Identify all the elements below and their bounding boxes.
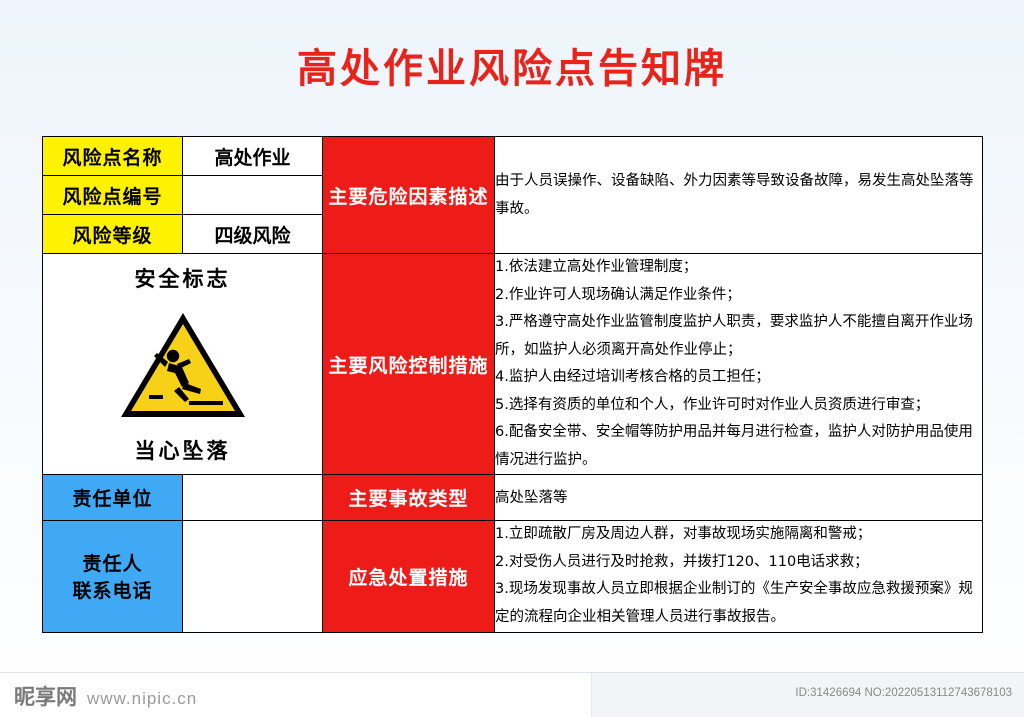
responsible-person-label-line1: 责任人 [43, 549, 182, 576]
control-measure-item: 2.作业许可人现场确认满足作业条件； [495, 282, 982, 310]
risk-name-label: 风险点名称 [43, 137, 183, 176]
poster-page: 高处作业风险点告知牌 风险点名称 高处作业 主要危险因素描述 由于人员误操作、设… [0, 0, 1024, 717]
safety-sign-cell: 安全标志 [43, 254, 323, 475]
control-measure-item: 1.依法建立高处作业管理制度； [495, 254, 982, 282]
table-row: 责任单位 主要事故类型 高处坠落等 [43, 475, 983, 521]
control-measures-text: 1.依法建立高处作业管理制度； 2.作业许可人现场确认满足作业条件； 3.严格遵… [495, 254, 983, 475]
table-row: 安全标志 [43, 254, 983, 475]
responsible-unit-label: 责任单位 [43, 475, 183, 521]
accident-type-text: 高处坠落等 [495, 475, 983, 521]
risk-level-label: 风险等级 [43, 215, 183, 254]
table-row: 风险点名称 高处作业 主要危险因素描述 由于人员误操作、设备缺陷、外力因素等导致… [43, 137, 983, 176]
risk-notice-table: 风险点名称 高处作业 主要危险因素描述 由于人员误操作、设备缺陷、外力因素等导致… [42, 136, 983, 633]
risk-code-label: 风险点编号 [43, 176, 183, 215]
safety-sign-caption: 当心坠落 [43, 435, 322, 465]
control-measure-item: 6.配备安全带、安全帽等防护用品并每月进行检查，监护人对防护用品使用情况进行监护… [495, 419, 982, 474]
table-row: 责任人 联系电话 应急处置措施 1.立即疏散厂房及周边人群，对事故现场实施隔离和… [43, 521, 983, 632]
control-measures-header: 主要风险控制措施 [323, 254, 495, 475]
control-measure-item: 5.选择有资质的单位和个人，作业许可时对作业人员资质进行审查； [495, 392, 982, 420]
site-logo-text: 昵享网 [14, 681, 77, 711]
control-measure-item: 3.严格遵守高处作业监管制度监护人职责，要求监护人不能擅自离开作业场所，如监护人… [495, 309, 982, 364]
emergency-measure-item: 2.对受伤人员进行及时抢救，并拨打120、110电话求救； [495, 549, 982, 577]
accident-type-header: 主要事故类型 [323, 475, 495, 521]
emergency-measure-item: 1.立即疏散厂房及周边人群，对事故现场实施隔离和警戒； [495, 521, 982, 549]
risk-name-value[interactable]: 高处作业 [183, 137, 323, 176]
safety-sign-title: 安全标志 [43, 263, 322, 293]
responsible-person-label-line2: 联系电话 [43, 576, 182, 603]
control-measure-item: 4.监护人由经过培训考核合格的员工担任； [495, 364, 982, 392]
hazard-description-text: 由于人员误操作、设备缺陷、外力因素等导致设备故障，易发生高处坠落等事故。 [495, 137, 983, 254]
page-title: 高处作业风险点告知牌 [0, 36, 1024, 94]
hazard-description-header: 主要危险因素描述 [323, 137, 495, 254]
emergency-measures-text: 1.立即疏散厂房及周边人群，对事故现场实施隔离和警戒； 2.对受伤人员进行及时抢… [495, 521, 983, 632]
site-url-text: www.nipic.cn [87, 689, 197, 709]
footer-bar: 昵享网 www.nipic.cn ID:31426694 NO:20220513… [0, 672, 1024, 717]
risk-code-value[interactable] [183, 176, 323, 215]
emergency-measures-header: 应急处置措施 [323, 521, 495, 632]
falling-person-warning-icon [43, 309, 322, 421]
emergency-measure-item: 3.现场发现事故人员立即根据企业制订的《生产安全事故应急救援预案》规定的流程向企… [495, 576, 982, 631]
asset-id-text: ID:31426694 NO:20220513112743678103 [795, 687, 1012, 699]
risk-level-value[interactable]: 四级风险 [183, 215, 323, 254]
responsible-person-value[interactable] [183, 521, 323, 632]
responsible-unit-value[interactable] [183, 475, 323, 521]
site-logo[interactable]: 昵享网 www.nipic.cn [14, 681, 197, 711]
responsible-person-label: 责任人 联系电话 [43, 521, 183, 632]
